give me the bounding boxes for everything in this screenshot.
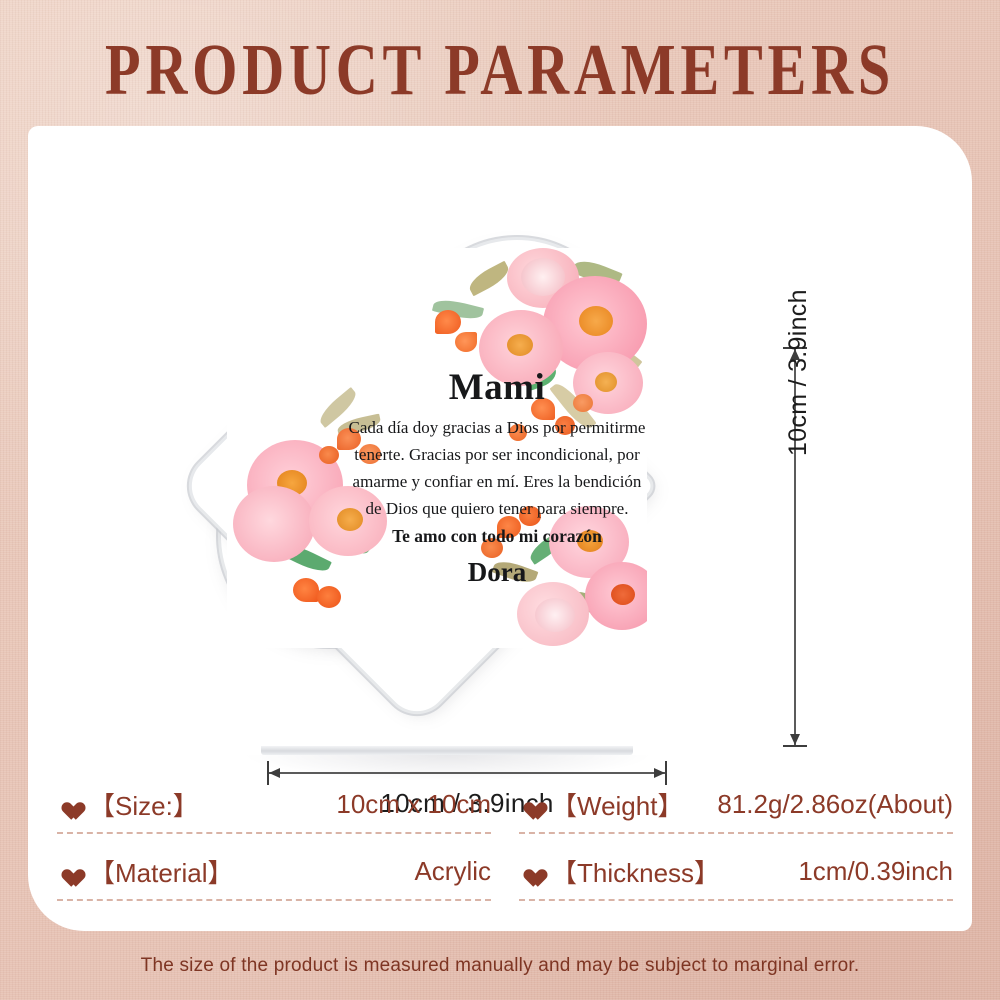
engraved-name: Mami <box>347 366 647 410</box>
engraved-text-block: Mami Cada día doy gracias a Dios por per… <box>347 366 647 589</box>
heart-icon <box>519 861 541 881</box>
dimension-line-horizontal <box>268 772 666 774</box>
spec-divider <box>519 832 953 834</box>
page-title: PRODUCT PARAMETERS <box>30 34 970 107</box>
spec-label-size: 【Size:】 <box>89 786 199 823</box>
spec-row-weight: 【Weight】 81.2g/2.86oz(About) <box>519 776 953 843</box>
engraved-signature: Dora <box>347 555 647 589</box>
spec-value-material: Acrylic <box>414 856 491 887</box>
spec-row-size: 【Size:】 10cm x 10cm <box>57 776 491 843</box>
footer-note: The size of the product is measured manu… <box>0 955 1000 977</box>
heart-icon <box>57 861 79 881</box>
spec-column-right: 【Weight】 81.2g/2.86oz(About) 【Thickness】… <box>519 776 953 910</box>
product-stage: Mami Cada día doy gracias a Dios por per… <box>28 126 972 726</box>
spec-label-weight: 【Weight】 <box>551 786 683 823</box>
plaque-bottom-edge <box>261 746 633 755</box>
spec-column-left: 【Size:】 10cm x 10cm 【Material】 Acrylic <box>57 776 491 910</box>
heart-printed-face: Mami Cada día doy gracias a Dios por per… <box>227 248 647 648</box>
spec-row-thickness: 【Thickness】 1cm/0.39inch <box>519 843 953 910</box>
spec-value-weight: 81.2g/2.86oz(About) <box>717 789 953 820</box>
engraved-message: Cada día doy gracias a Dios por permitir… <box>347 414 647 522</box>
spec-label-material: 【Material】 <box>89 853 233 890</box>
spec-row-material: 【Material】 Acrylic <box>57 843 491 910</box>
spec-divider <box>57 832 491 834</box>
spec-value-thickness: 1cm/0.39inch <box>798 856 953 887</box>
product-card: Mami Cada día doy gracias a Dios por per… <box>28 126 972 931</box>
spec-divider <box>519 899 953 901</box>
engraved-closing: Te amo con todo mi corazón <box>347 524 647 548</box>
heart-acrylic-plaque: Mami Cada día doy gracias a Dios por per… <box>213 206 668 686</box>
spec-label-thickness: 【Thickness】 <box>551 853 720 890</box>
arrow-down-icon <box>790 734 800 745</box>
dimension-label-vertical: 10cm / 3.9inch <box>784 289 813 456</box>
heart-icon <box>57 794 79 814</box>
spec-value-size: 10cm x 10cm <box>336 789 491 820</box>
spec-divider <box>57 899 491 901</box>
heart-icon <box>519 794 541 814</box>
